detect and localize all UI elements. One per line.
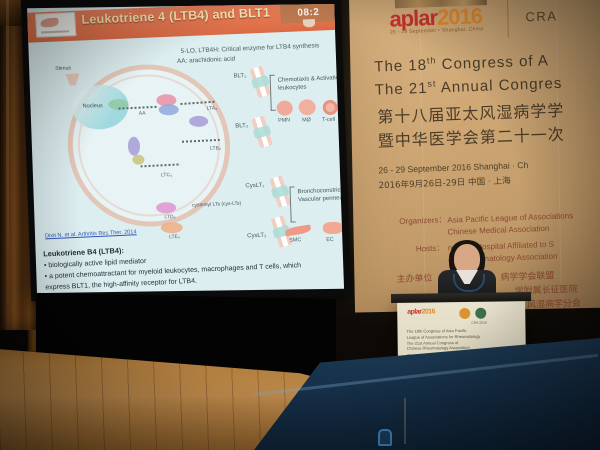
banner-divider xyxy=(507,0,509,38)
nucleus-label: Nucleus xyxy=(82,103,102,109)
receptor-membrane-blt2 xyxy=(251,116,273,148)
banner-title-en-1: The 18th Congress of A xyxy=(374,51,549,75)
photo-scene: Leukotriene 4 (LTB4) and BLT1 08:2 5-LO,… xyxy=(0,0,600,450)
organizers-label-cn: 主办单位 xyxy=(396,271,432,285)
slide-note-aa: AA: arachidonic acid xyxy=(177,56,236,65)
podium-logo-word: aplar xyxy=(407,309,421,316)
receptor-label-blt2: BLT₂ xyxy=(235,123,248,130)
slide-logo-icon xyxy=(35,12,76,38)
podium-top-surface xyxy=(391,292,531,303)
microphone-stand xyxy=(404,398,406,444)
organizer-value-2: Chinese Medical Association xyxy=(447,224,549,237)
organizer-value-1: Asia Pacific League of Associations xyxy=(447,211,573,225)
stimulus-receptor-icon xyxy=(65,73,79,85)
title-en-2-pre: The 21 xyxy=(375,80,428,99)
cell-icon-pmn xyxy=(276,101,293,116)
banner-fold xyxy=(555,0,562,309)
molecule-tag-aa: AA xyxy=(139,111,146,117)
effect-bronchoconstriction: Bronchoconstriction Vascular permeabilit… xyxy=(297,187,344,204)
enzyme-blob-violet xyxy=(128,137,141,156)
ligand-label-cyslts: cysteinyl LTs (cys-LTs) xyxy=(192,201,242,209)
effect-chemotaxis: Chemotaxis & Activation of leukocytes xyxy=(277,75,344,93)
title-en-2-post: Annual Congres xyxy=(436,75,562,97)
cell-label-macrophage: MØ xyxy=(302,117,311,123)
receptor-label-cyslt2: CysLT₁ xyxy=(245,183,264,190)
podium-aplar-logo: aplar2016 xyxy=(407,308,443,321)
title-en-1-pre: The 18 xyxy=(374,57,427,76)
slide-summary: Leukotriene B4 (LTB4): • biologically ac… xyxy=(43,235,344,293)
banner-title-en-2: The 21st Annual Congres xyxy=(374,74,562,99)
molecule-tag-ltd4: LTD₄ xyxy=(164,214,175,220)
host-value-cn-2: 风湿病学分会 xyxy=(527,296,581,311)
slide-citation: Dixit N. et al. Arthritis Res Ther. 2014 xyxy=(45,229,137,239)
effect-bracket xyxy=(289,186,295,222)
molecule-tag-lta4: LTA₄ xyxy=(207,106,218,112)
cell-label-tcell: T-cell xyxy=(322,117,335,124)
enzyme-blob-orange xyxy=(161,222,183,233)
molecule-tag-ltc4: LTC₄ xyxy=(161,172,172,178)
riser-latch-icon xyxy=(378,429,392,446)
title-en-2-sup: st xyxy=(427,78,436,88)
podium-title-en: The 18th Congress of Asia Pacific League… xyxy=(406,328,480,352)
receptor-membrane-blt1 xyxy=(249,66,271,98)
presentation-slide: Leukotriene 4 (LTB4) and BLT1 08:2 5-LO,… xyxy=(27,4,344,293)
projection-screen: Leukotriene 4 (LTB4) and BLT1 08:2 5-LO,… xyxy=(21,0,352,301)
cra-logo-text: CRA xyxy=(525,8,557,24)
banner-date-en: 26 - 29 September 2016 Shanghai · Ch xyxy=(378,160,528,175)
presentation-timer: 08:2 xyxy=(280,4,337,24)
receptor-label-blt1: BLT₁ xyxy=(233,73,246,80)
summary-heading: Leukotriene B4 (LTB4): xyxy=(43,246,124,259)
aplar-logo: aplar2016 26 - 29 September • Shanghai, … xyxy=(389,3,483,35)
molecule-tag-ltb4: LTB₄ xyxy=(210,146,221,152)
organizer-value-cn: 病学学会联盟 xyxy=(500,268,554,283)
podium-seal-icon-1 xyxy=(459,308,470,319)
effect-bracket xyxy=(270,75,276,111)
receptor-membrane-cyslt2 xyxy=(269,175,291,207)
molecule-tag-lte4: LTE₄ xyxy=(169,234,180,240)
cell-icon-macrophage xyxy=(298,99,316,115)
podium-seal-caption: CRA 2016 xyxy=(471,321,487,325)
cell-label-pmn: PMN xyxy=(278,117,290,123)
banner-date-cn: 2016年9月26日-29日 中国 · 上海 xyxy=(378,174,510,191)
cell-icon-tcell xyxy=(322,100,338,115)
stimuli-label: Stimuli xyxy=(55,66,71,72)
organizers-label: Organizers： xyxy=(399,214,446,227)
banner-fold xyxy=(419,0,426,311)
cell-icon-ec xyxy=(323,222,343,234)
slide-note-enzyme: 5-LO, LTB4H: Critical enzyme for LTB4 sy… xyxy=(180,42,319,55)
title-en-1-post: Congress of A xyxy=(436,52,549,73)
podium-logo-year: 2016 xyxy=(421,308,435,315)
podium-seal-icon-2 xyxy=(475,308,486,319)
